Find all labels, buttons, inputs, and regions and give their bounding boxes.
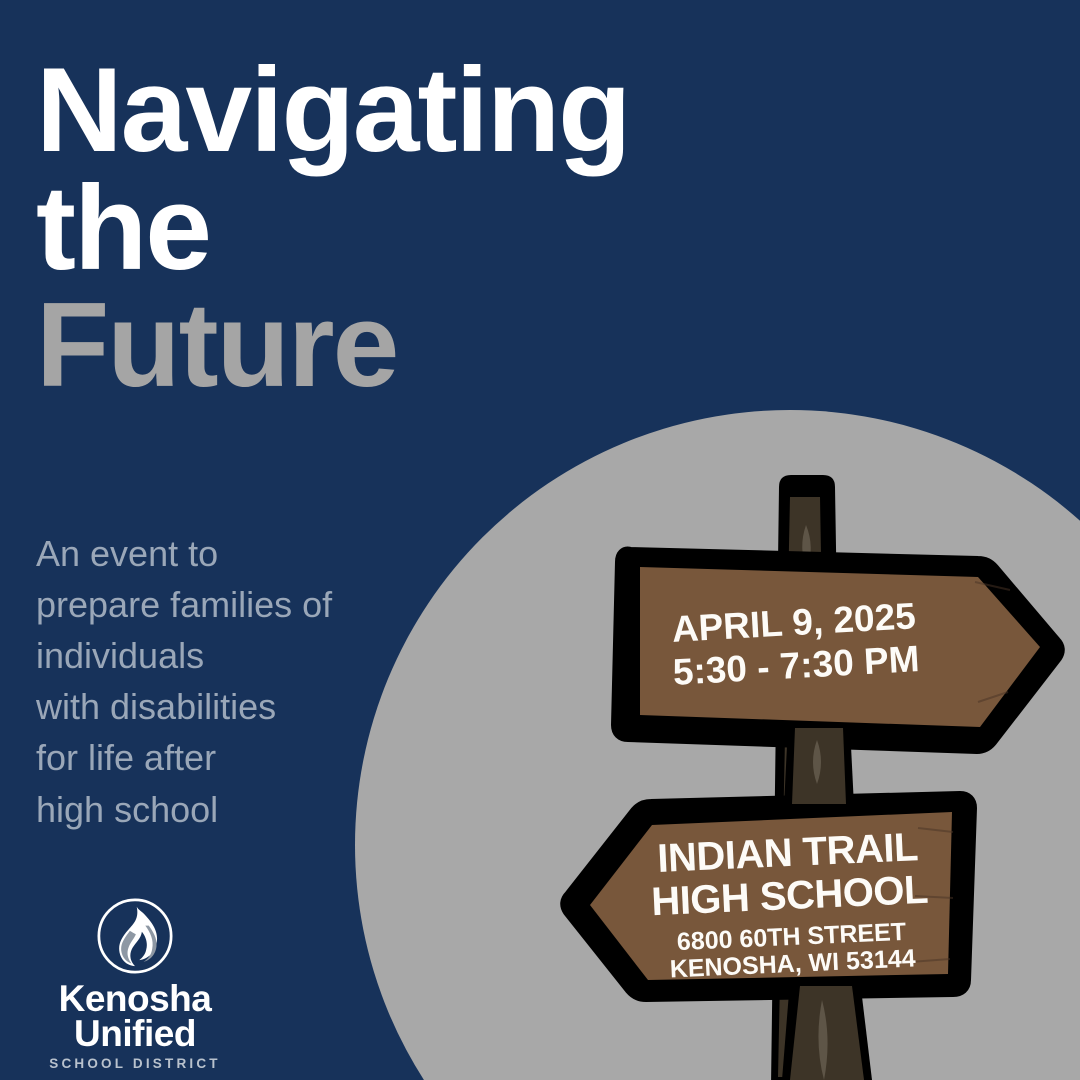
flame-in-circle-icon (92, 893, 178, 979)
logo-name-line-1: Kenosha (30, 981, 240, 1016)
logo-name-line-2: Unified (30, 1016, 240, 1051)
event-poster: Navigating the Future An event to prepar… (0, 0, 1080, 1080)
sign-post-middle (784, 726, 854, 806)
district-logo: Kenosha Unified SCHOOL DISTRICT (30, 893, 240, 1071)
logo-wordmark: Kenosha Unified (30, 981, 240, 1051)
sign-date-time (620, 556, 1056, 745)
logo-subtitle: SCHOOL DISTRICT (30, 1056, 240, 1071)
sign-location (569, 800, 968, 993)
sign-post-bottom (782, 980, 872, 1080)
